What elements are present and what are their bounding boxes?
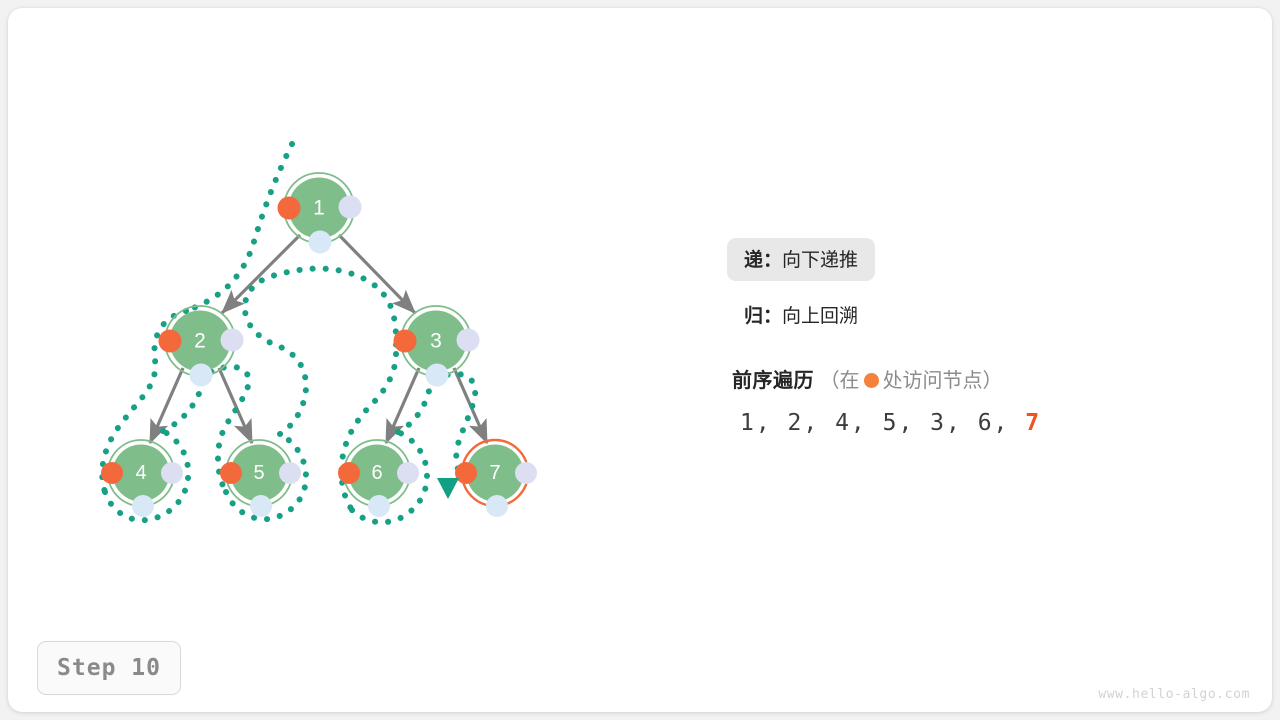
legend-recurse-up-text: 向上回溯 [782, 306, 858, 327]
traversal-sequence-visited: 1, 2, 4, 5, 3, 6, [740, 410, 1009, 436]
tree-nodes: 1 2 3 [101, 173, 537, 517]
node-1-label: 1 [313, 197, 325, 220]
node-4-pre-dot [101, 462, 123, 484]
legend-recurse-up: 归：向上回溯 [727, 294, 875, 337]
node-6-post-dot [368, 495, 390, 517]
node-5-in-dot [279, 462, 301, 484]
tree-node-2[interactable]: 2 [159, 306, 244, 387]
traversal-sequence-current: 7 [1025, 410, 1041, 436]
node-1-in-dot [339, 196, 362, 219]
preorder-marker-icon [864, 373, 879, 388]
traversal-sequence: 1, 2, 4, 5, 3, 6, 7 [740, 410, 1041, 436]
node-4-in-dot [161, 462, 183, 484]
node-1-post-dot [309, 231, 332, 254]
traversal-title-prefix: （在 [820, 370, 860, 392]
node-7-post-dot [486, 495, 508, 517]
node-2-pre-dot [159, 330, 182, 353]
legend-recurse-up-keyword: 归： [744, 306, 782, 327]
node-2-label: 2 [194, 330, 206, 353]
node-6-label: 6 [371, 462, 382, 484]
traversal-title-name: 前序遍历 [732, 370, 814, 392]
node-5-post-dot [250, 495, 272, 517]
node-6-pre-dot [338, 462, 360, 484]
watermark: www.hello-algo.com [1098, 687, 1250, 702]
traversal-title: 前序遍历 （在处访问节点） [732, 364, 1003, 393]
path-root-to-2 [186, 144, 292, 311]
node-3-pre-dot [394, 330, 417, 353]
binary-tree-diagram: 1 2 3 [0, 0, 1280, 720]
node-5-pre-dot [220, 462, 242, 484]
tree-node-7[interactable]: 7 [455, 440, 537, 517]
tree-node-3[interactable]: 3 [394, 306, 480, 387]
step-badge-label: Step 10 [57, 655, 161, 681]
current-pointer-triangle [437, 478, 459, 499]
tree-node-1[interactable]: 1 [278, 173, 362, 254]
node-5-label: 5 [253, 462, 264, 484]
figure-canvas: 1 2 3 [0, 0, 1280, 720]
step-badge: Step 10 [37, 641, 181, 695]
node-1-pre-dot [278, 197, 301, 220]
legend-recurse-down-text: 向下递推 [782, 250, 858, 271]
legend-recurse-down-keyword: 递： [744, 250, 782, 271]
node-7-in-dot [515, 462, 537, 484]
node-6-in-dot [397, 462, 419, 484]
node-3-label: 3 [430, 330, 442, 353]
node-2-post-dot [190, 364, 213, 387]
node-7-pre-dot [455, 462, 477, 484]
path-5-to-3 [245, 269, 396, 434]
node-3-post-dot [426, 364, 449, 387]
watermark-text: www.hello-algo.com [1098, 687, 1250, 702]
node-7-label: 7 [489, 462, 500, 484]
traversal-title-suffix: 处访问节点） [883, 370, 1003, 392]
node-2-in-dot [221, 329, 244, 352]
node-4-label: 4 [135, 462, 146, 484]
node-3-in-dot [457, 329, 480, 352]
legend-recurse-down: 递：向下递推 [727, 238, 875, 281]
node-4-post-dot [132, 495, 154, 517]
